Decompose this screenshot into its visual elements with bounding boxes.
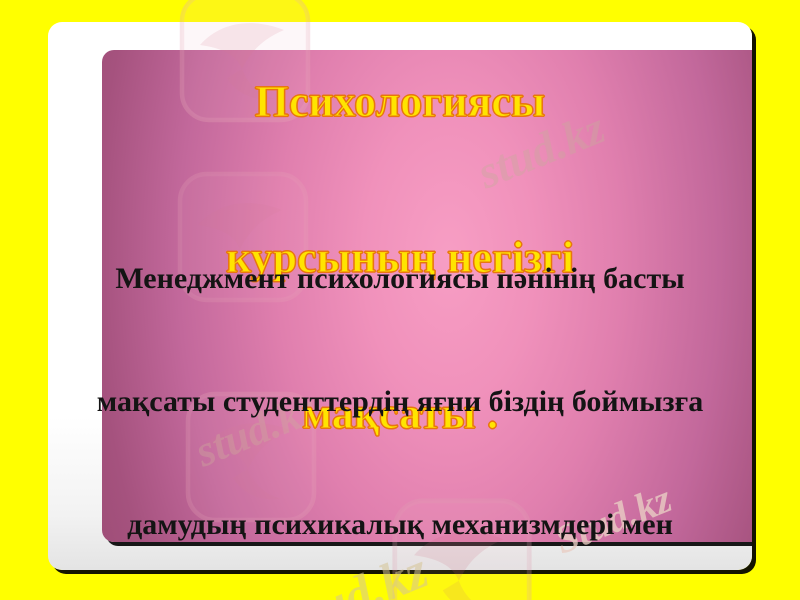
- slide-title-line-1: Психологиясы: [0, 76, 800, 128]
- slide-body-text: Менеджмент психологиясы пәнінің басты ма…: [24, 176, 776, 600]
- slide-canvas: stud.kz stud.kz Stud.kz Stud.kz Психолог…: [0, 0, 800, 600]
- slide-body-line-2: мақсаты студенттердің яғни біздің боймыз…: [24, 381, 776, 422]
- slide-body-line-1: Менеджмент психологиясы пәнінің басты: [24, 258, 776, 299]
- slide-body-line-3: дамудың психикалық механизмдері мен: [24, 504, 776, 545]
